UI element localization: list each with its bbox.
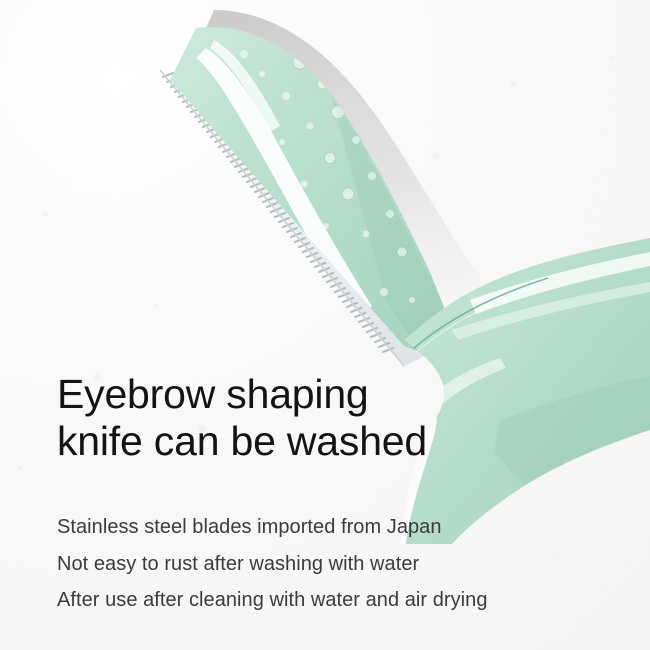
page-title: Eyebrow shaping knife can be washed: [57, 371, 617, 465]
feature-item-1: Stainless steel blades imported from Jap…: [57, 509, 617, 546]
feature-item-2: Not easy to rust after washing with wate…: [57, 546, 617, 583]
text-content-block: Eyebrow shaping knife can be washed Stai…: [57, 371, 617, 619]
feature-list: Stainless steel blades imported from Jap…: [57, 509, 617, 619]
feature-item-3: After use after cleaning with water and …: [57, 582, 617, 619]
product-marketing-image: Eyebrow shaping knife can be washed Stai…: [0, 0, 650, 650]
